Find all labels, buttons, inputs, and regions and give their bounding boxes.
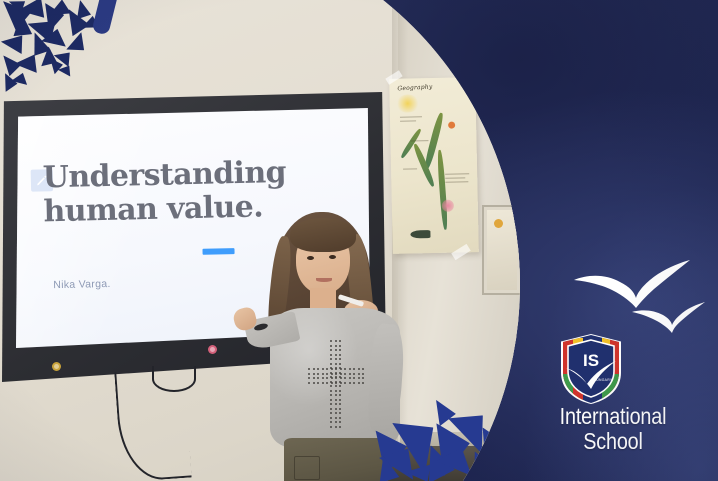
trouser-pocket <box>294 456 320 480</box>
poster-annotation-c <box>410 140 428 141</box>
poster-sun <box>396 94 420 112</box>
crest-subtext: HUNGARY <box>594 378 613 382</box>
poster-marker-a <box>448 122 455 129</box>
brand-name: International School <box>533 404 693 453</box>
poster-annotation-e <box>445 177 465 178</box>
eye-right <box>329 255 336 259</box>
hair-bangs <box>290 218 356 252</box>
international-school-crest-logo: IS HUNGARY International School <box>520 256 706 452</box>
brand-name-line1: International <box>560 403 667 429</box>
poster-annotation-b <box>400 120 416 121</box>
mouth <box>316 278 332 282</box>
gold-flower-sticker <box>52 362 61 371</box>
power-cable-loop <box>152 366 196 392</box>
screenshot-root: Geography <box>0 0 718 481</box>
pink-flower-sticker <box>208 345 217 354</box>
circular-photo-mask: Geography <box>0 0 520 481</box>
crest-shield-icon: IS HUNGARY <box>560 334 622 404</box>
poster-title: Geography <box>397 83 432 92</box>
blue-dash-accent <box>202 248 234 255</box>
slide-title-line2: value. <box>167 189 264 226</box>
slide-author: Nika Varga. <box>53 278 111 291</box>
eye-left <box>307 256 314 260</box>
poster-flower <box>442 200 454 212</box>
seagull-small-icon <box>630 300 706 334</box>
brand-name-line2: School <box>533 429 693 454</box>
studded-cross-motif <box>308 340 366 430</box>
poster-annotation-f <box>445 181 468 182</box>
wall-picture-frame <box>482 205 520 295</box>
poster-river-c <box>437 150 449 230</box>
wall-picture-accent <box>494 219 503 228</box>
svg-text:IS: IS <box>583 351 599 370</box>
origami-decor-bottom <box>370 404 520 481</box>
poster-annotation-g <box>403 168 417 169</box>
poster-annotation-d <box>445 173 469 175</box>
classroom-photograph: Geography <box>0 0 520 481</box>
poster-annotation-a <box>400 116 422 117</box>
